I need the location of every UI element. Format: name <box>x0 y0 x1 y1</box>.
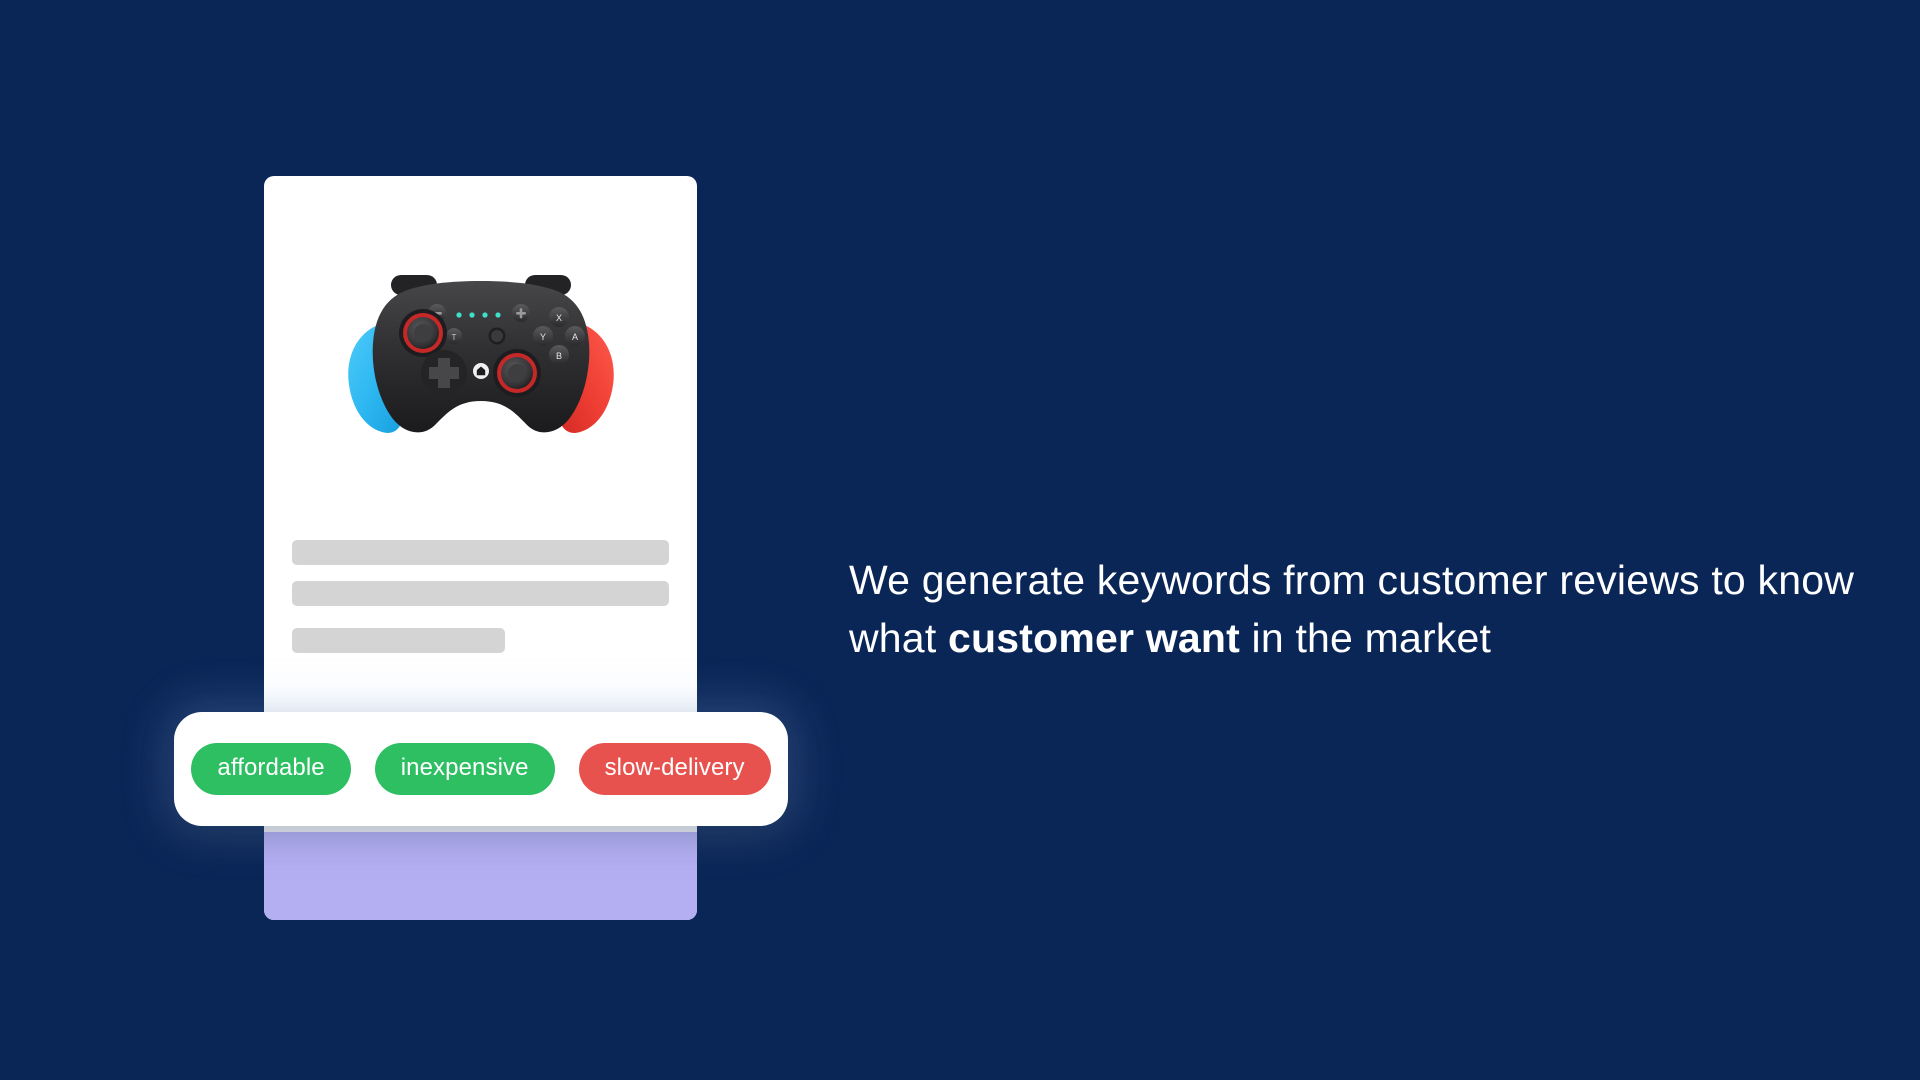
keyword-pill-slow-delivery[interactable]: slow-delivery <box>579 743 771 795</box>
skeleton-line-1 <box>292 540 669 565</box>
keyword-bar: affordable inexpensive slow-delivery <box>174 712 788 826</box>
keyword-pill-affordable[interactable]: affordable <box>191 743 350 795</box>
skeleton-line-3 <box>292 628 505 653</box>
svg-text:X: X <box>555 313 561 323</box>
keyword-pill-inexpensive[interactable]: inexpensive <box>375 743 555 795</box>
game-controller-image: T <box>331 261 631 451</box>
slide-canvas: T <box>0 0 1920 1080</box>
card-footer-bar <box>264 832 697 920</box>
svg-text:T: T <box>451 333 456 342</box>
svg-text:A: A <box>571 332 577 342</box>
product-detail-skeleton <box>292 540 669 653</box>
headline-text-emphasis: customer want <box>948 615 1240 661</box>
svg-text:B: B <box>555 351 561 361</box>
headline-text-after: in the market <box>1240 615 1491 661</box>
headline: We generate keywords from customer revie… <box>849 551 1869 667</box>
product-image-area: T <box>264 176 697 536</box>
svg-text:Y: Y <box>539 332 545 342</box>
skeleton-line-2 <box>292 581 669 606</box>
